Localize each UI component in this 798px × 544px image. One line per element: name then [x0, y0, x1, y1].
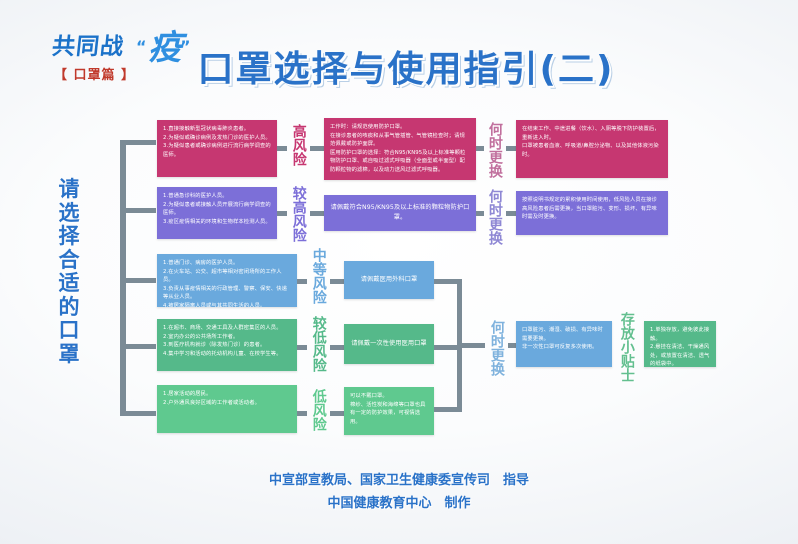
row4-connector-right [330, 345, 344, 350]
row1-connector-right [310, 146, 324, 151]
left-bracket-branch-3 [120, 278, 156, 283]
people-text: 1.在超市、商场、交通工具及人群密集区的人员。2.室内办公的公共场所工作者。3.… [163, 324, 291, 358]
risk-label-char: 高风险 [290, 124, 305, 166]
row1-connector-change-right [506, 146, 516, 151]
row5-connector-right [330, 411, 344, 416]
when-to-change-text: 何时更换 [486, 189, 502, 245]
change-text: 按照说明书规定的累积使用时间使用，低风险人员在接诊高风险患者后需更换，当口罩脏污… [522, 196, 662, 222]
risk-label-char: 中等风险 [310, 248, 325, 304]
campaign-logo-quote-close: ” [180, 37, 191, 56]
risk-label-low: 低风险 [308, 389, 328, 435]
left-vertical-heading: 请 选 择 合 适 的 口 罩 [52, 178, 86, 366]
left-heading-char: 口 [52, 319, 86, 343]
risk-label-char: 低风险 [310, 389, 325, 431]
people-box-high-risk: 1.直接接触新型冠状病毒肺炎患者。2.为疑似或确诊病例及发热门诊的医护人员。3.… [157, 120, 277, 177]
mask-box-higher-risk: 请佩戴符合N95/KN95及以上标准的颗粒物防护口罩。 [324, 195, 476, 231]
mask-text: 请佩戴符合N95/KN95及以上标准的颗粒物防护口罩。 [330, 203, 470, 223]
shared-change-connector [508, 343, 516, 348]
when-to-change-text: 何时更换 [486, 122, 502, 178]
row2-connector-left [277, 211, 287, 216]
footer-line-1: 中宣部宣教局、国家卫生健康委宣传司 指导 [0, 470, 798, 493]
people-text: 1.普通门诊、病房的医护人员。2.在火车站、公交、超市等相对密闭场所的工作人员。… [163, 259, 291, 307]
left-bracket-branch-5 [120, 411, 156, 416]
storage-tips-label: 存放小贴士 [616, 312, 636, 387]
left-heading-char: 请 [52, 178, 86, 202]
row3-connector-right [330, 279, 344, 284]
mask-box-lower-risk: 请佩戴一次性使用医用口罩 [344, 324, 434, 364]
storage-tips-text: 1.单独存放，避免彼此接触。2.悬挂在清洁、干燥通风处，或放置在清洁、透气的纸袋… [650, 326, 710, 367]
row2-connector-change-right [506, 211, 516, 216]
page-title: 口罩选择与使用指引(二) [196, 40, 616, 92]
row3-connector-left [297, 279, 307, 284]
campaign-logo-accent: 疫 [148, 31, 182, 65]
people-box-lower-risk: 1.在超市、商场、交通工具及人群密集区的人员。2.室内办公的公共场所工作者。3.… [157, 319, 297, 371]
row2-connector-change [476, 211, 484, 216]
risk-label-medium: 中等风险 [308, 248, 328, 308]
mask-text: 可以不戴口罩。棉纱、活性炭和海绵等口罩也具有一定的防护效果，可视情选用。 [350, 392, 428, 426]
when-to-change-label-1: 何时更换 [484, 122, 504, 183]
row4-connector-left [297, 345, 307, 350]
left-bracket-branch-4 [120, 344, 156, 349]
people-box-medium-risk: 1.普通门诊、病房的医护人员。2.在火车站、公交、超市等相对密闭场所的工作人员。… [157, 254, 297, 307]
change-box-high-risk: 在结束工作、中途进餐（饮水）、入厕等脱下防护装置后，重新进入时。口罩被患者血液、… [516, 120, 668, 178]
change-text: 在结束工作、中途进餐（饮水）、入厕等脱下防护装置后，重新进入时。口罩被患者血液、… [522, 125, 662, 159]
risk-label-high: 高风险 [288, 124, 308, 170]
row1-connector-change [476, 146, 484, 151]
row2-connector-right [310, 211, 324, 216]
row5-connector-left [297, 411, 307, 416]
right-bracket-branch-medium [434, 279, 462, 284]
change-text: 口罩脏污、潮湿、破损、有异味时需要更换。非一次性口罩可反复多次使用。 [522, 326, 606, 352]
people-text: 1.直接接触新型冠状病毒肺炎患者。2.为疑似或确诊病例及发热门诊的医护人员。3.… [163, 125, 271, 159]
risk-label-char: 较高风险 [290, 186, 305, 242]
mask-box-medium-risk: 请佩戴医用外科口罩 [344, 261, 434, 299]
people-text: 1.居家活动的居民。2.户外通风良好区域的工作者或活动者。 [163, 390, 291, 407]
when-to-change-label-shared: 何时更换 [486, 320, 506, 381]
when-to-change-text: 何时更换 [488, 320, 504, 376]
risk-label-higher: 较高风险 [288, 186, 308, 246]
left-bracket-branch-1 [120, 140, 156, 145]
campaign-logo-quote-open: “ [136, 37, 147, 56]
mask-box-high-risk: 工作时：请规范使用防护口罩。在接诊患者的咳痰和从事气管插管、气管镜检查时；请规范… [324, 118, 476, 180]
change-box-higher-risk: 按照说明书规定的累积使用时间使用，低风险人员在接诊高风险患者后需更换，当口罩脏污… [516, 191, 668, 235]
left-heading-char: 适 [52, 272, 86, 296]
right-bracket-stem [457, 343, 485, 348]
storage-tips-label-text: 存放小贴士 [618, 312, 634, 382]
storage-tips-box: 1.单独存放，避免彼此接触。2.悬挂在清洁、干燥通风处，或放置在清洁、透气的纸袋… [644, 321, 716, 367]
left-heading-char: 合 [52, 249, 86, 273]
row1-connector-left [277, 146, 287, 151]
when-to-change-label-2: 何时更换 [484, 189, 504, 250]
mask-text: 工作时：请规范使用防护口罩。在接诊患者的咳痰和从事气管插管、气管镜检查时；请规范… [330, 123, 470, 174]
right-bracket-branch-low [434, 407, 462, 412]
people-box-higher-risk: 1.普通急诊科的医护人员。2.为疑似患者或接触人员开展流行病学调查的医师。3.疫… [157, 187, 277, 239]
campaign-logo: 共同战 “ 疫 ” 【 口罩篇 】 [52, 36, 202, 92]
risk-label-char: 较低风险 [310, 316, 325, 372]
left-heading-char: 的 [52, 296, 86, 320]
footer-credits: 中宣部宣教局、国家卫生健康委宣传司 指导 中国健康教育中心 制作 [0, 470, 798, 516]
mask-text: 请佩戴医用外科口罩 [361, 275, 418, 285]
left-bracket-branch-2 [120, 208, 156, 213]
mask-box-low-risk: 可以不戴口罩。棉纱、活性炭和海绵等口罩也具有一定的防护效果，可视情选用。 [344, 387, 434, 435]
mask-text: 请佩戴一次性使用医用口罩 [351, 339, 426, 349]
footer-line-2: 中国健康教育中心 制作 [0, 493, 798, 516]
poster-canvas: 共同战 “ 疫 ” 【 口罩篇 】 口罩选择与使用指引(二) 请 选 择 合 适… [0, 0, 798, 544]
people-box-low-risk: 1.居家活动的居民。2.户外通风良好区域的工作者或活动者。 [157, 385, 297, 433]
left-heading-char: 选 [52, 202, 86, 226]
risk-label-lower: 较低风险 [308, 316, 328, 376]
left-heading-char: 罩 [52, 343, 86, 367]
people-text: 1.普通急诊科的医护人员。2.为疑似患者或接触人员开展流行病学调查的医师。3.疫… [163, 192, 271, 226]
change-box-shared: 口罩脏污、潮湿、破损、有异味时需要更换。非一次性口罩可反复多次使用。 [516, 321, 612, 367]
campaign-logo-subtitle: 【 口罩篇 】 [54, 64, 135, 83]
left-heading-char: 择 [52, 225, 86, 249]
